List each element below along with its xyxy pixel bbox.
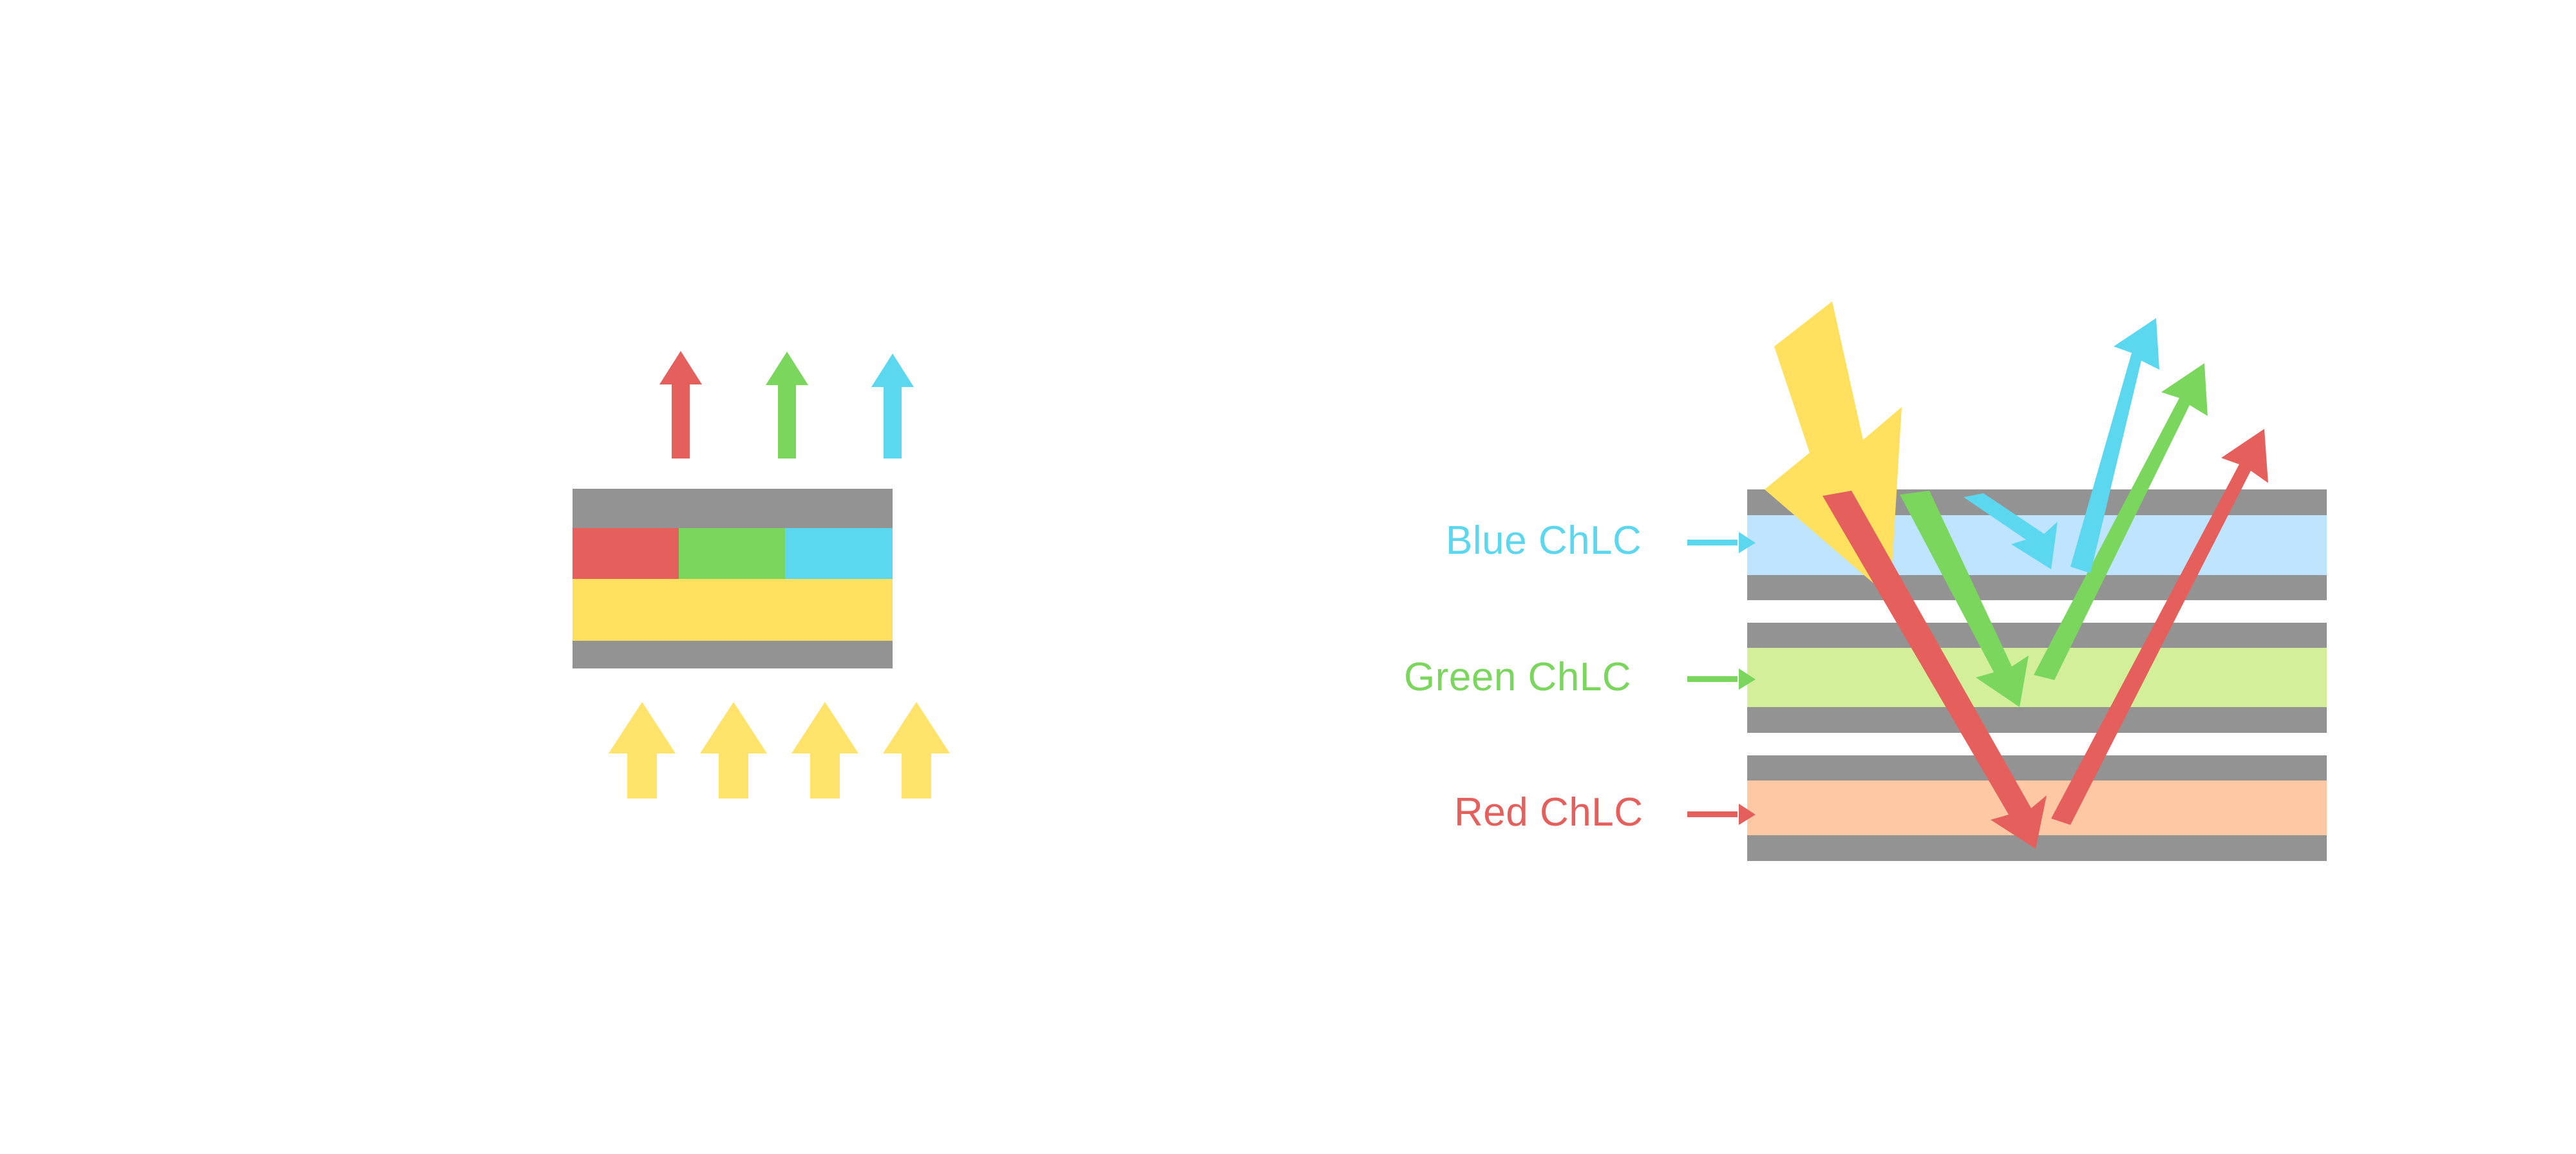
emissive-rgb-stack-group	[573, 351, 950, 799]
blue-chlc-bottom-electrode	[1747, 575, 2327, 600]
red-chlc-label-arrow-icon	[1687, 804, 1756, 825]
blue-emission-arrow	[871, 354, 914, 459]
red-chlc-label-group: Red ChLC	[1454, 790, 1756, 835]
backlight-layer	[573, 579, 893, 641]
green-subpixel	[679, 528, 785, 579]
red-chlc-label: Red ChLC	[1454, 790, 1643, 835]
backlight-arrow	[883, 702, 950, 799]
green-chlc-top-electrode	[1747, 623, 2327, 648]
left-bottom-electrode	[573, 641, 893, 668]
blue-subpixel	[785, 528, 893, 579]
green-chlc-bottom-electrode	[1747, 707, 2327, 733]
backlight-arrow	[791, 702, 858, 799]
green-chlc-medium	[1747, 648, 2327, 707]
red-emission-arrow	[659, 351, 702, 459]
blue-chlc-label-arrow-icon	[1687, 532, 1756, 553]
chlc-display-diagram: Blue ChLC Green ChLC Red ChLC	[0, 0, 2576, 1154]
green-chlc-label-group: Green ChLC	[1404, 655, 1756, 699]
blue-chlc-label: Blue ChLC	[1446, 518, 1642, 563]
green-emission-arrow	[766, 352, 808, 459]
red-chlc-top-electrode	[1747, 755, 2327, 780]
green-chlc-label-arrow-icon	[1687, 668, 1756, 690]
backlight-arrow	[609, 702, 676, 799]
backlight-arrow	[700, 702, 767, 799]
red-subpixel	[573, 528, 679, 579]
diagram-canvas: Blue ChLC Green ChLC Red ChLC	[0, 0, 2576, 1154]
chlc-reflective-stack-group: Blue ChLC Green ChLC Red ChLC	[1404, 301, 2327, 861]
left-top-electrode	[573, 489, 893, 528]
blue-chlc-label-group: Blue ChLC	[1446, 518, 1756, 563]
green-chlc-label: Green ChLC	[1404, 655, 1631, 699]
